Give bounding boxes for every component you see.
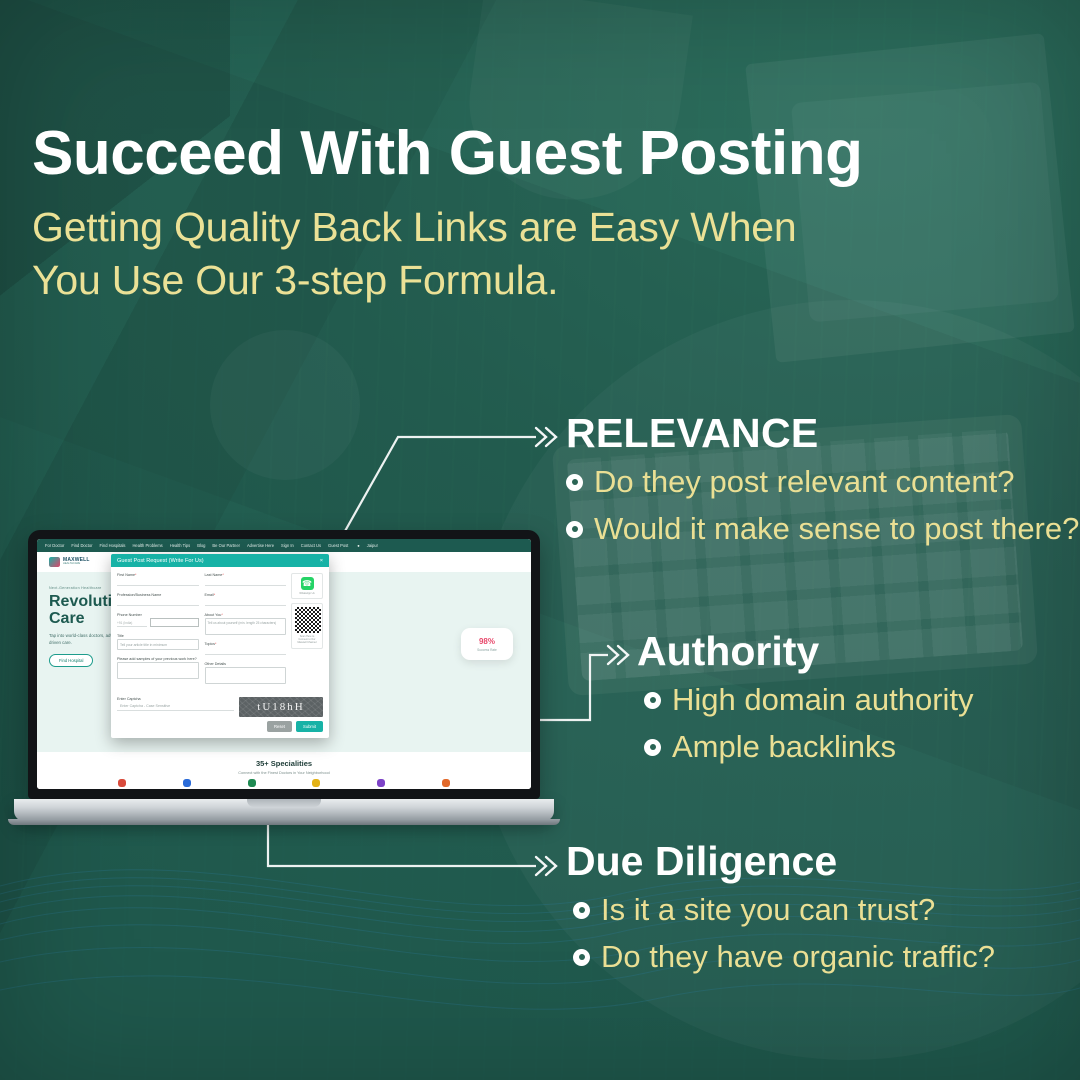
field-topics: Topics* <box>205 642 287 655</box>
speciality-icon-row <box>37 779 531 787</box>
email-input[interactable] <box>205 598 287 606</box>
captcha-row: Enter Captcha Enter Captcha - Case Sensi… <box>111 697 329 721</box>
qr-code-icon <box>295 607 321 633</box>
nav-item-contact-us[interactable]: Contact Us <box>301 543 321 548</box>
captcha-image: tU18hH <box>239 697 323 717</box>
list-item: High domain authority <box>644 680 974 720</box>
section-due-diligence: Due Diligence Is it a site you can trust… <box>566 840 995 978</box>
list-item-label: Would it make sense to post there? <box>594 509 1079 549</box>
phone-country-code[interactable]: +91 (India) <box>117 621 147 627</box>
specialities-title: 35+ Specialities <box>256 759 312 768</box>
laptop-lid: For Doctor Find Doctor Find Hospitals He… <box>28 530 540 799</box>
stat-value: 98% <box>479 637 495 646</box>
subtitle-line-2: You Use Our 3-step Formula. <box>32 254 992 306</box>
bullet-icon <box>573 949 590 966</box>
modal-title: Guest Post Request (Write For Us) <box>117 558 204 564</box>
stat-card-success-rate: 98% Success Rate <box>461 628 513 660</box>
list-item: Do they post relevant content? <box>566 462 1079 502</box>
laptop-base <box>14 799 554 821</box>
site-logo-text[interactable]: MAXWELL HEALTHCARE <box>63 558 90 566</box>
modal-actions: Reset Submit <box>111 721 329 738</box>
reset-button[interactable]: Reset <box>267 721 292 732</box>
nav-item-be-our-partner[interactable]: Be Our Partner <box>212 543 240 548</box>
bullet-icon <box>566 474 583 491</box>
qr-label: Scan Here to Connect to Our Maxwell Chan… <box>295 635 319 644</box>
modal-header: Guest Post Request (Write For Us) × <box>111 554 329 567</box>
label-last-name: Last Name <box>205 573 223 577</box>
bullet-icon <box>566 521 583 538</box>
speciality-icon-4[interactable] <box>312 779 320 787</box>
bullet-icon <box>573 902 590 919</box>
section-authority: Authority High domain authority Ample ba… <box>637 630 974 768</box>
nav-item-health-problems[interactable]: Health Problems <box>132 543 162 548</box>
label-first-name: First Name <box>117 573 135 577</box>
label-other-details: Other Details <box>205 662 287 666</box>
field-other-details: Other Details <box>205 662 287 684</box>
list-item: Ample backlinks <box>644 727 974 767</box>
label-topics: Topics <box>205 642 215 646</box>
field-about-you: About You* Tell us about yourself (min. … <box>205 613 287 635</box>
field-profession: Profession/Business Name <box>117 593 199 606</box>
speciality-icon-2[interactable] <box>183 779 191 787</box>
guest-post-modal: Guest Post Request (Write For Us) × Firs… <box>111 554 329 738</box>
nav-item-sign-in[interactable]: Sign In <box>281 543 294 548</box>
whatsapp-icon: ☎ <box>301 577 314 590</box>
nav-item-health-tips[interactable]: Health Tips <box>170 543 190 548</box>
list-item: Would it make sense to post there? <box>566 509 1079 549</box>
field-last-name: Last Name* <box>205 573 287 586</box>
page-title: Succeed With Guest Posting <box>32 122 992 185</box>
label-phone: Phone Number <box>117 613 199 617</box>
modal-form-column-left: First Name* Profession/Business Name Pho… <box>117 573 199 691</box>
nav-item-advertise-here[interactable]: Advertise Here <box>247 543 274 548</box>
field-first-name: First Name* <box>117 573 199 586</box>
speciality-icon-5[interactable] <box>377 779 385 787</box>
whatsapp-label: WhatsApp Us <box>295 592 319 595</box>
label-profession: Profession/Business Name <box>117 593 199 597</box>
title-input[interactable]: Tell your article title in minimum <box>117 639 199 650</box>
section-title-authority: Authority <box>637 630 974 673</box>
about-you-textarea[interactable]: Tell us about yourself (min. length 25 c… <box>205 618 287 635</box>
speciality-icon-6[interactable] <box>442 779 450 787</box>
section-title-relevance: RELEVANCE <box>566 412 1079 455</box>
field-phone: Phone Number +91 (India) <box>117 613 199 627</box>
qr-card: Scan Here to Connect to Our Maxwell Chan… <box>291 603 323 648</box>
phone-number-input[interactable] <box>150 618 199 627</box>
label-captcha: Enter Captcha <box>117 697 234 701</box>
list-item-label: Is it a site you can trust? <box>601 890 935 930</box>
topics-input[interactable] <box>205 647 287 655</box>
section-list-due-diligence: Is it a site you can trust? Do they have… <box>573 890 995 978</box>
bullet-icon <box>644 692 661 709</box>
modal-side-panel: ☎ WhatsApp Us Scan Here to Connect to Ou… <box>291 573 323 691</box>
nav-item-find-doctor[interactable]: Find Doctor <box>71 543 92 548</box>
speciality-icon-3[interactable] <box>248 779 256 787</box>
bullet-icon <box>644 739 661 756</box>
modal-form-column-right: Last Name* Email* About You* Tell us abo <box>205 573 287 691</box>
captcha-field: Enter Captcha Enter Captcha - Case Sensi… <box>117 697 234 711</box>
close-icon[interactable]: × <box>320 558 323 564</box>
submit-button[interactable]: Submit <box>296 721 323 732</box>
nav-location[interactable]: Jaipur <box>367 543 378 548</box>
section-relevance: RELEVANCE Do they post relevant content?… <box>566 412 1079 550</box>
field-samples: Please add samples of your previous work… <box>117 657 199 679</box>
list-item: Is it a site you can trust? <box>573 890 995 930</box>
laptop-screen: For Doctor Find Doctor Find Hospitals He… <box>37 539 531 789</box>
samples-textarea[interactable] <box>117 662 199 679</box>
section-title-due-diligence: Due Diligence <box>566 840 995 883</box>
modal-form-columns: First Name* Profession/Business Name Pho… <box>117 573 286 691</box>
list-item-label: Do they have organic traffic? <box>601 937 995 977</box>
list-item-label: Do they post relevant content? <box>594 462 1014 502</box>
heart-logo-icon <box>49 557 60 567</box>
location-pin-icon: ● <box>357 543 359 548</box>
section-list-authority: High domain authority Ample backlinks <box>644 680 974 768</box>
list-item-label: High domain authority <box>672 680 974 720</box>
nav-item-guest-post[interactable]: Guest Post <box>328 543 348 548</box>
headline-group: Succeed With Guest Posting Getting Quali… <box>32 122 992 306</box>
nav-item-find-hospitals[interactable]: Find Hospitals <box>100 543 126 548</box>
label-title: Title <box>117 634 199 638</box>
label-email: Email <box>205 593 214 597</box>
whatsapp-card[interactable]: ☎ WhatsApp Us <box>291 573 323 599</box>
nav-item-for-doctor[interactable]: For Doctor <box>45 543 64 548</box>
find-hospital-button[interactable]: Find Hospital <box>49 654 93 667</box>
site-specialities-bar: 35+ Specialities Connect with the Finest… <box>37 752 531 789</box>
laptop-mockup: For Doctor Find Doctor Find Hospitals He… <box>28 530 540 821</box>
field-title: Title Tell your article title in minimum <box>117 634 199 650</box>
profession-input[interactable] <box>117 598 199 606</box>
specialities-subtitle: Connect with the Finest Doctors in Your … <box>37 771 531 775</box>
other-details-textarea[interactable] <box>205 667 287 684</box>
first-name-input[interactable] <box>117 578 199 586</box>
website-page: For Doctor Find Doctor Find Hospitals He… <box>37 539 531 789</box>
last-name-input[interactable] <box>205 578 287 586</box>
site-topnav: For Doctor Find Doctor Find Hospitals He… <box>37 539 531 552</box>
label-samples: Please add samples of your previous work… <box>117 657 199 661</box>
list-item-label: Ample backlinks <box>672 727 896 767</box>
laptop-base-foot <box>8 819 560 825</box>
subtitle-line-1: Getting Quality Back Links are Easy When <box>32 201 992 253</box>
stat-label: Success Rate <box>477 648 497 652</box>
page-subtitle: Getting Quality Back Links are Easy When… <box>32 201 992 306</box>
field-email: Email* <box>205 593 287 606</box>
captcha-input[interactable]: Enter Captcha - Case Sensitive <box>117 702 234 711</box>
nav-item-blog[interactable]: Blog <box>197 543 205 548</box>
modal-body: First Name* Profession/Business Name Pho… <box>111 567 329 697</box>
section-list-relevance: Do they post relevant content? Would it … <box>566 462 1079 550</box>
logo-tagline: HEALTHCARE <box>63 563 90 566</box>
speciality-icon-1[interactable] <box>118 779 126 787</box>
label-about-you: About You <box>205 613 222 617</box>
list-item: Do they have organic traffic? <box>573 937 995 977</box>
